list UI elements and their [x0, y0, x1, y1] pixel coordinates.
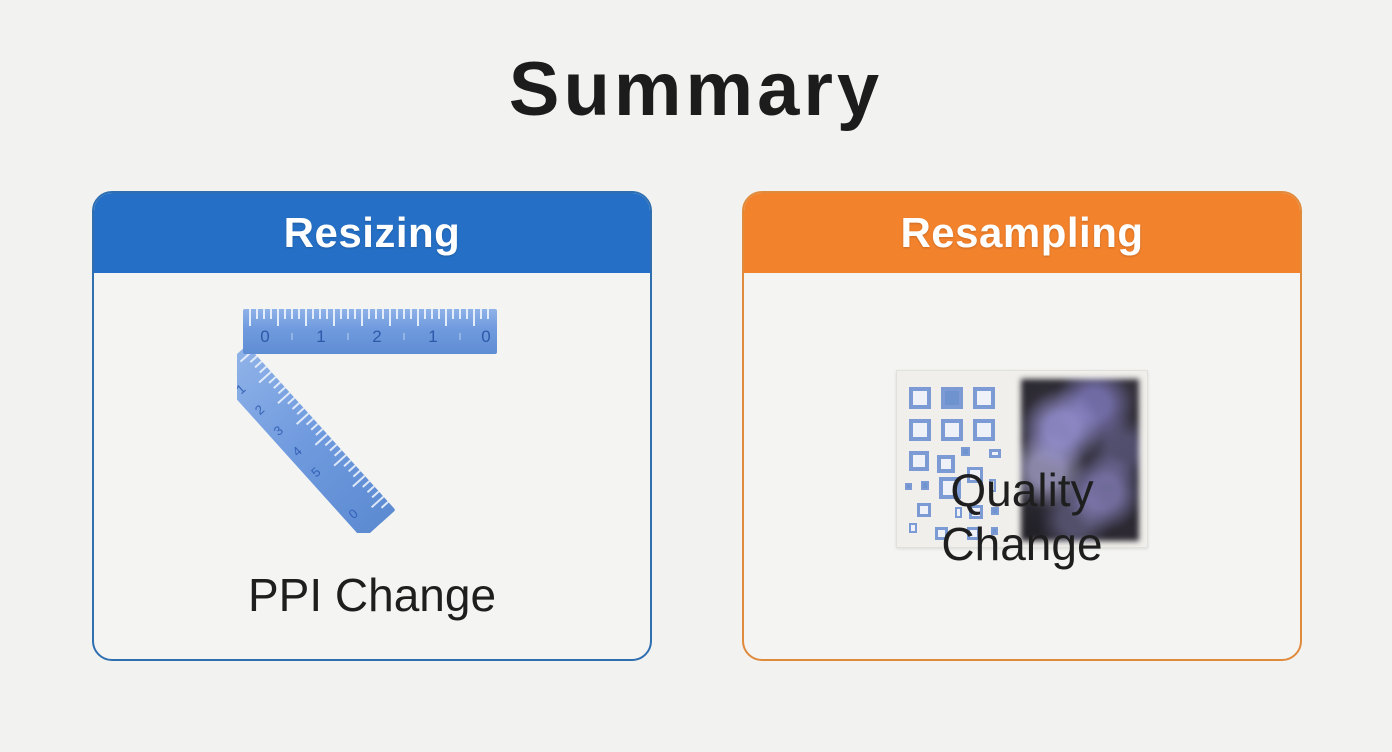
svg-text:1: 1: [316, 327, 325, 346]
pixel-square: [973, 419, 995, 441]
pixel-square: [989, 449, 1001, 458]
svg-text:1: 1: [428, 327, 437, 346]
pixel-square: [973, 387, 995, 409]
ruler-icon: 1 2 3 4 5 0: [237, 303, 507, 533]
card-header-resampling: Resampling: [744, 193, 1300, 273]
card-body-resampling: Quality Change: [744, 273, 1300, 659]
svg-text:0: 0: [481, 327, 490, 346]
pixel-square: [909, 419, 931, 441]
card-body-resizing: 1 2 3 4 5 0: [94, 273, 650, 659]
card-header-label-resizing: Resizing: [284, 212, 461, 254]
card-caption-resampling: Quality Change: [744, 463, 1300, 572]
pixel-square: [961, 447, 970, 456]
svg-text:0: 0: [260, 327, 269, 346]
pixel-square: [941, 387, 963, 409]
svg-text:2: 2: [372, 327, 381, 346]
card-resampling: Resampling: [742, 191, 1302, 661]
card-caption-resizing: PPI Change: [94, 568, 650, 622]
pixel-square: [941, 419, 963, 441]
pixel-square: [909, 387, 931, 409]
page-title: Summary: [0, 52, 1392, 128]
card-header-label-resampling: Resampling: [900, 212, 1143, 254]
card-resizing: Resizing: [92, 191, 652, 661]
card-header-resizing: Resizing: [94, 193, 650, 273]
